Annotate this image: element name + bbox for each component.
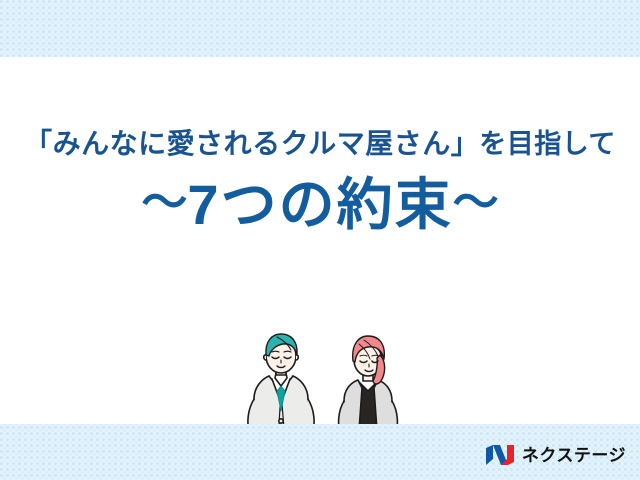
- brand-logo-text: ネクステージ: [522, 447, 626, 464]
- page-title: 「みんなに愛されるクルマ屋さん」を目指して: [0, 129, 640, 160]
- page-subtitle: ～7つの約束～: [0, 176, 640, 235]
- slide-root: 「みんなに愛されるクルマ屋さん」を目指して ～7つの約束～: [0, 0, 640, 480]
- female-staff-figure: [339, 336, 398, 424]
- page-title-quoted: 「みんなに愛されるクルマ屋さん」: [24, 128, 479, 159]
- male-staff-figure: [248, 334, 314, 424]
- subtitle-core: 7つの約束: [187, 173, 452, 236]
- content-card: 「みんなに愛されるクルマ屋さん」を目指して ～7つの約束～: [0, 57, 640, 424]
- subtitle-lead-wave: ～: [141, 176, 187, 228]
- page-title-tail: を目指して: [479, 129, 616, 159]
- brand-logo: ネクステージ: [485, 442, 626, 468]
- subtitle-trail-wave: ～: [453, 176, 499, 228]
- nextage-n-mark-icon: [485, 444, 515, 466]
- two-bowing-staff-illustration: [236, 329, 426, 424]
